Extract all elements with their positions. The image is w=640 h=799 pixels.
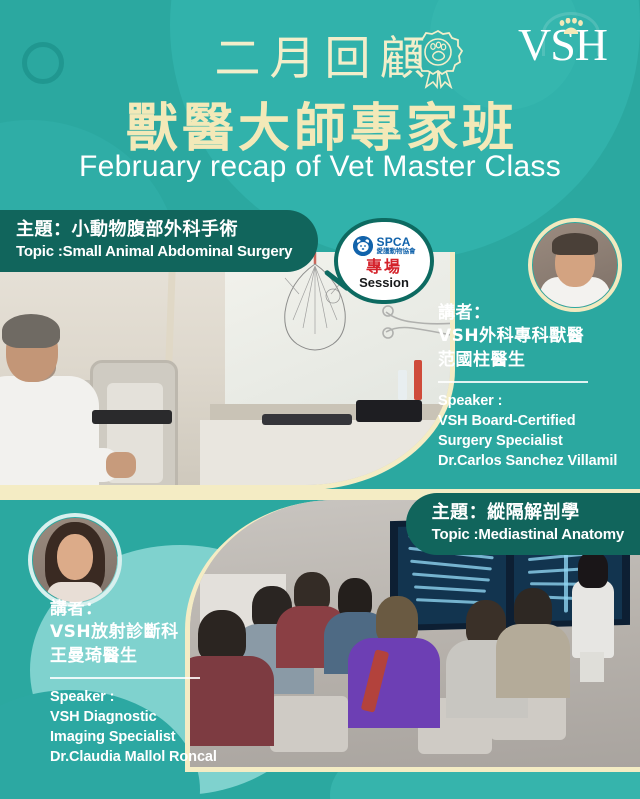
spca-session-badge: SPCA 愛護動物協會 專場 Session <box>334 218 434 304</box>
black-equipment <box>356 400 422 422</box>
seated-speaker <box>0 320 118 490</box>
speaker-divider-2 <box>50 677 200 679</box>
speaker-en-role1-2: VSH Diagnostic <box>50 707 250 727</box>
speaker-hand <box>106 452 136 478</box>
avatar-speaker-1 <box>533 223 617 307</box>
poster-canvas: 二月回顧 獸醫大師專家班 February recap of Vet Maste… <box>0 0 640 799</box>
topic-cn-1: 主題：小動物腹部外科手術 <box>16 219 292 242</box>
topic-banner-2: 主題：縱隔解剖學 Topic :Mediastinal Anatomy <box>406 493 640 555</box>
speaker-cn-name-2: 王曼琦醫生 <box>50 645 250 668</box>
speaker-cn-name-1: 范國柱醫生 <box>438 349 638 372</box>
topic-en-2: Topic :Mediastinal Anatomy <box>432 526 624 544</box>
speaker-cn-label-1: 講者： <box>438 302 638 325</box>
avatar-speaker-2 <box>33 518 117 602</box>
keyboard-near <box>92 410 172 424</box>
topic-cn-2: 主題：縱隔解剖學 <box>432 502 624 525</box>
audience-body-e <box>348 638 440 728</box>
vsh-logo: VSH <box>518 22 618 84</box>
desk-surface <box>200 420 455 490</box>
audience-body-g <box>496 624 570 698</box>
page-title-en: February recap of Vet Master Class <box>0 150 640 184</box>
speaker-en-name-1: Dr.Carlos Sanchez Villamil <box>438 451 638 471</box>
topic-banner-1: 主題：小動物腹部外科手術 Topic :Small Animal Abdomin… <box>0 210 318 272</box>
footer-space <box>0 772 640 799</box>
avatar-head-2 <box>57 534 93 580</box>
speaker-en-label-2: Speaker : <box>50 687 250 707</box>
speaker-en-role2-1: Surgery Specialist <box>438 431 638 451</box>
rosette-paw-icon <box>412 27 464 89</box>
speaker-cn-role-2: VSH放射診斷科 <box>50 621 250 644</box>
avatar-face-2 <box>33 518 117 602</box>
session-label-cn: 專場 <box>366 259 402 275</box>
topic-en-1: Topic :Small Animal Abdominal Surgery <box>16 243 292 261</box>
paw-print-icon <box>556 18 586 34</box>
bottle-white <box>398 370 407 400</box>
speaker-info-2: 講者： VSH放射診斷科 王曼琦醫生 Speaker : VSH Diagnos… <box>50 598 250 767</box>
speaker-en-role1-1: VSH Board-Certified <box>438 411 638 431</box>
presenter-standing <box>570 552 614 680</box>
speaker-en-name-2: Dr.Claudia Mallol Roncal <box>50 747 250 767</box>
presenter-coat <box>572 580 614 658</box>
spca-logo-text-block: SPCA 愛護動物協會 <box>377 236 416 255</box>
avatar-hair <box>552 233 598 255</box>
speaker-cn-role-1: VSH外科專科獸醫 <box>438 325 638 348</box>
spca-name-cn: 愛護動物協會 <box>377 248 416 255</box>
keyboard-far <box>262 414 352 425</box>
spca-logo-row: SPCA 愛護動物協會 <box>353 236 416 256</box>
speaker-info-1: 講者： VSH外科專科獸醫 范國柱醫生 Speaker : VSH Board-… <box>438 302 638 471</box>
poster-header: 二月回顧 獸醫大師專家班 February recap of Vet Maste… <box>0 0 640 210</box>
spca-animal-head-icon <box>353 236 373 256</box>
speaker-en-role2-2: Imaging Specialist <box>50 727 250 747</box>
session-label-en: Session <box>359 276 409 289</box>
avatar-body-2 <box>47 582 103 602</box>
speaker-en-label-1: Speaker : <box>438 391 638 411</box>
audience-head-e <box>376 596 418 644</box>
presenter-hair <box>578 552 608 588</box>
presenter-legs <box>580 652 604 682</box>
speaker-hair <box>2 314 60 348</box>
bottle-red <box>414 360 422 400</box>
speaker-divider-1 <box>438 381 588 383</box>
avatar-face-1 <box>533 223 617 307</box>
chair-1 <box>270 696 348 752</box>
